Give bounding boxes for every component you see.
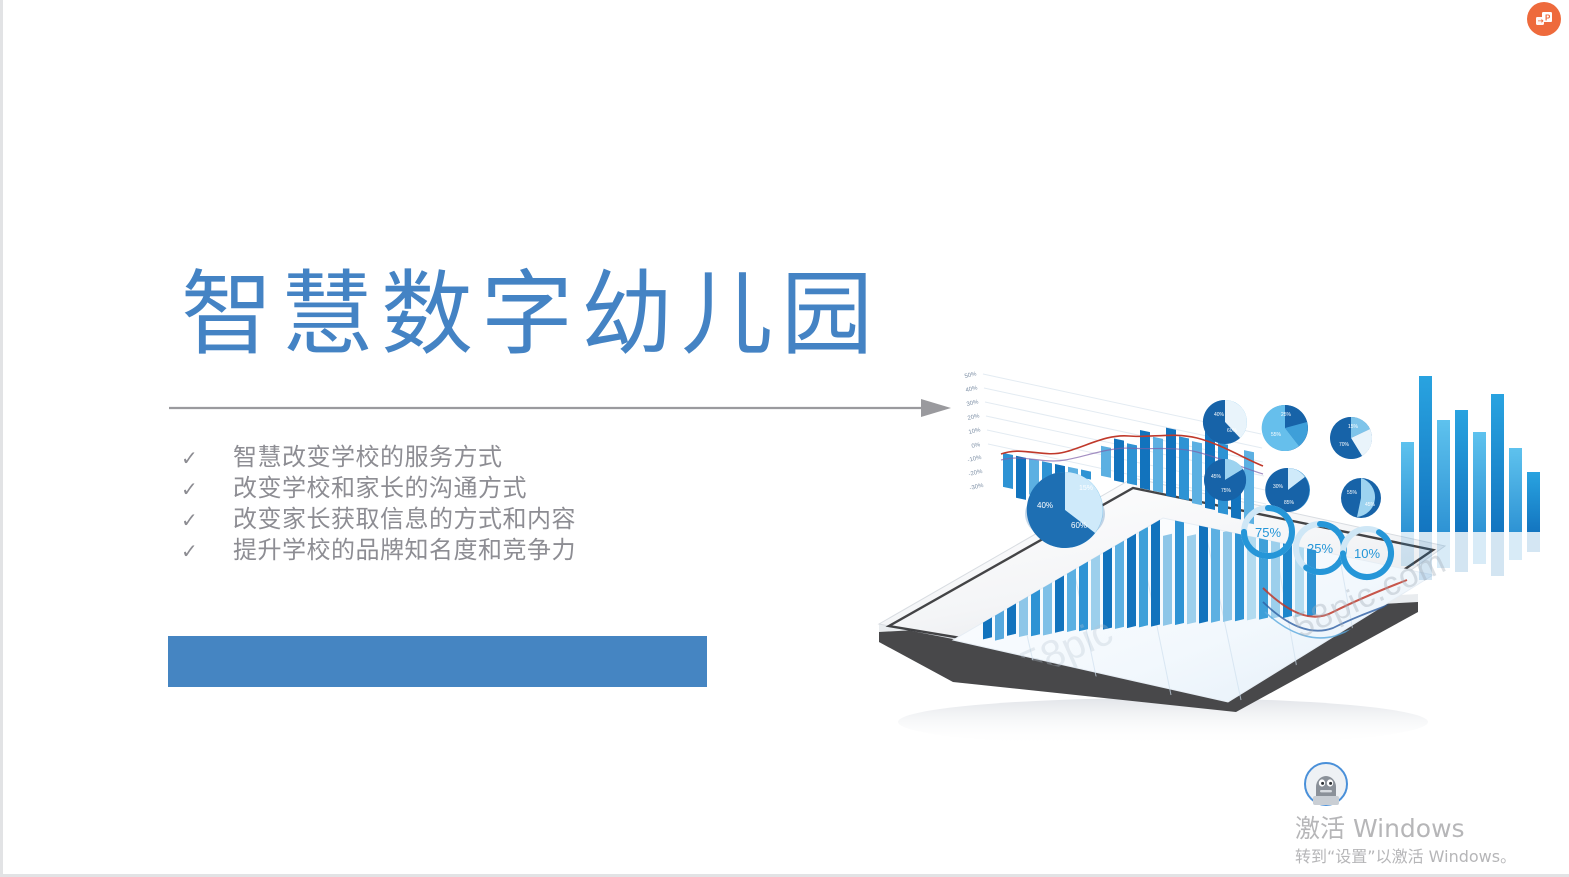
svg-text:55%: 55% <box>1271 432 1282 438</box>
tablet-chart-illustration: 58pic 50% 40% 30% 20% 10% 0% -10% -20% -… <box>833 350 1569 750</box>
list-item-label: 智慧改变学校的服务方式 <box>233 442 503 473</box>
slide-title: 智慧数字幼儿园 <box>181 265 881 364</box>
svg-text:-20%: -20% <box>968 469 984 478</box>
svg-text:75%: 75% <box>1255 525 1281 540</box>
svg-text:55%: 55% <box>1347 490 1358 496</box>
checkmark-icon: ✓ <box>181 506 233 537</box>
svg-text:60%: 60% <box>1071 521 1087 530</box>
svg-text:0%: 0% <box>971 442 981 450</box>
svg-text:30%: 30% <box>966 399 980 408</box>
svg-text:60%: 60% <box>1227 428 1238 434</box>
svg-text:40%: 40% <box>965 385 979 394</box>
svg-text:-30%: -30% <box>969 483 985 492</box>
svg-text:25%: 25% <box>1281 412 1292 418</box>
svg-text:P: P <box>1545 14 1551 23</box>
blue-accent-bar <box>168 636 707 687</box>
svg-text:30%: 30% <box>1273 484 1284 490</box>
presentation-icon[interactable]: P <box>1527 2 1561 36</box>
list-item-label: 改变学校和家长的沟通方式 <box>233 473 527 504</box>
svg-text:15%: 15% <box>1348 424 1359 430</box>
svg-text:70%: 70% <box>1339 442 1350 448</box>
svg-text:50%: 50% <box>964 371 978 380</box>
svg-text:45%: 45% <box>1365 502 1376 508</box>
svg-text:25%: 25% <box>1307 541 1333 556</box>
watermark-title: 激活 Windows <box>1295 809 1465 845</box>
svg-text:20%: 20% <box>967 413 981 422</box>
checkmark-icon: ✓ <box>181 444 233 475</box>
svg-text:45%: 45% <box>1211 474 1222 480</box>
presentation-slide: 智慧数字幼儿园 ✓ 智慧改变学校的服务方式 ✓ 改变学校和家长的沟通方式 ✓ 改… <box>0 0 1569 877</box>
list-item: ✓ 智慧改变学校的服务方式 <box>181 442 741 473</box>
svg-text:10%: 10% <box>968 427 982 436</box>
floating-bar-cluster <box>1401 376 1540 580</box>
bullet-list: ✓ 智慧改变学校的服务方式 ✓ 改变学校和家长的沟通方式 ✓ 改变家长获取信息的… <box>181 442 741 566</box>
svg-text:10%: 10% <box>1354 546 1380 561</box>
list-item: ✓ 提升学校的品牌知名度和竞争力 <box>181 535 741 566</box>
checkmark-icon: ✓ <box>181 537 233 568</box>
list-item-label: 改变家长获取信息的方式和内容 <box>233 504 576 535</box>
svg-text:40%: 40% <box>1214 412 1225 418</box>
floating-pie-grid: 40% 60% 25% 55% 15% 70% <box>1203 400 1381 518</box>
svg-text:75%: 75% <box>1221 488 1232 494</box>
svg-text:40%: 40% <box>1037 501 1053 510</box>
watermark-subtitle: 转到“设置”以激活 Windows。 <box>1295 843 1516 867</box>
checkmark-icon: ✓ <box>181 475 233 506</box>
list-item-label: 提升学校的品牌知名度和竞争力 <box>233 535 576 566</box>
svg-text:15%: 15% <box>1079 485 1093 492</box>
svg-text:85%: 85% <box>1284 500 1295 506</box>
list-item: ✓ 改变家长获取信息的方式和内容 <box>181 504 741 535</box>
robot-avatar-icon <box>1303 761 1349 807</box>
list-item: ✓ 改变学校和家长的沟通方式 <box>181 473 741 504</box>
svg-text:-10%: -10% <box>967 455 983 464</box>
